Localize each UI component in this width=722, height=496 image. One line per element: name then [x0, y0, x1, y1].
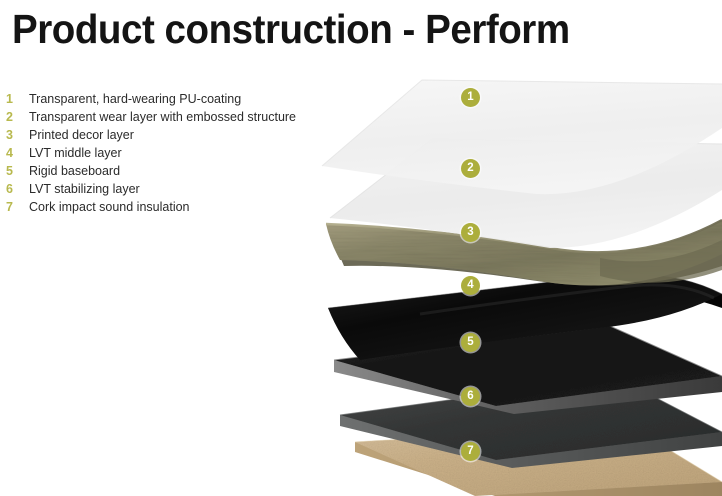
layer-badge-5[interactable]: 5 — [461, 333, 480, 352]
legend-number-6: 6 — [6, 180, 18, 198]
legend-label-6: LVT stabilizing layer — [29, 180, 140, 198]
legend-number-7: 7 — [6, 198, 18, 216]
legend-number-2: 2 — [6, 108, 18, 126]
legend-number-5: 5 — [6, 162, 18, 180]
legend-item-6: 6 LVT stabilizing layer — [0, 180, 330, 198]
exploded-layer-diagram — [300, 70, 722, 496]
legend-label-7: Cork impact sound insulation — [29, 198, 190, 216]
layer-legend: 1 Transparent, hard-wearing PU-coating 2… — [0, 90, 330, 216]
legend-label-2: Transparent wear layer with embossed str… — [29, 108, 296, 126]
layer-badge-3[interactable]: 3 — [461, 223, 480, 242]
legend-number-4: 4 — [6, 144, 18, 162]
legend-item-7: 7 Cork impact sound insulation — [0, 198, 330, 216]
legend-number-3: 3 — [6, 126, 18, 144]
legend-item-5: 5 Rigid baseboard — [0, 162, 330, 180]
layer-badge-6[interactable]: 6 — [461, 387, 480, 406]
legend-label-3: Printed decor layer — [29, 126, 134, 144]
layer-badge-7[interactable]: 7 — [461, 442, 480, 461]
layer-badge-1[interactable]: 1 — [461, 88, 480, 107]
legend-item-2: 2 Transparent wear layer with embossed s… — [0, 108, 330, 126]
product-construction-slide: Product construction - Perform — [0, 0, 722, 496]
legend-label-5: Rigid baseboard — [29, 162, 120, 180]
legend-label-4: LVT middle layer — [29, 144, 122, 162]
page-title: Product construction - Perform — [12, 4, 570, 54]
layer-badge-4[interactable]: 4 — [461, 276, 480, 295]
legend-item-3: 3 Printed decor layer — [0, 126, 330, 144]
legend-label-1: Transparent, hard-wearing PU-coating — [29, 90, 241, 108]
layer-badge-2[interactable]: 2 — [461, 159, 480, 178]
legend-item-1: 1 Transparent, hard-wearing PU-coating — [0, 90, 330, 108]
legend-item-4: 4 LVT middle layer — [0, 144, 330, 162]
legend-number-1: 1 — [6, 90, 18, 108]
